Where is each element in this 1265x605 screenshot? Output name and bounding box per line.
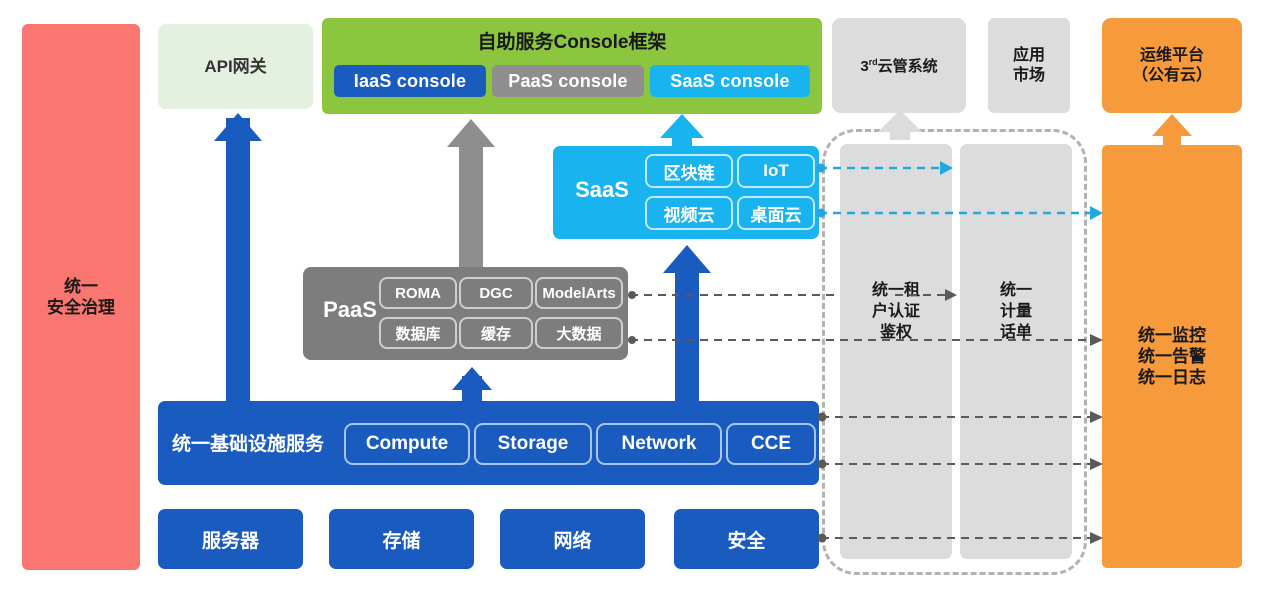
infra-chip-compute[interactable]: Compute — [344, 423, 470, 465]
unified-security-governance-panel: 统一 安全治理 — [22, 24, 140, 570]
iaas-console-chip[interactable]: IaaS console — [334, 65, 486, 97]
unified-monitoring-label: 统一监控 统一告警 统一日志 — [1138, 325, 1206, 389]
arrow-infra-to-paas-shaft — [462, 376, 482, 401]
unified-tenant-auth-column — [840, 144, 952, 559]
third-party-cloud-management-label: 3rd云管系统 — [860, 55, 937, 76]
paas-chip-bigdata[interactable]: 大数据 — [535, 317, 623, 349]
arrow-infra-to-saas-shaft — [675, 260, 699, 401]
hardware-box-security: 安全 — [674, 509, 819, 569]
arrow-saas-to-console-shaft — [672, 128, 692, 146]
app-market-label: 应用 市场 — [1013, 46, 1045, 86]
arrow-infra-to-paas-head — [452, 367, 492, 390]
paas-label: PaaS — [311, 297, 389, 323]
paas-chip-database[interactable]: 数据库 — [379, 317, 457, 349]
paas-console-chip[interactable]: PaaS console — [492, 65, 644, 97]
saas-chip-blockchain[interactable]: 区块链 — [645, 154, 733, 188]
saas-chip-desktop-cloud[interactable]: 桌面云 — [737, 196, 815, 230]
hardware-box-server: 服务器 — [158, 509, 303, 569]
app-market-box: 应用 市场 — [988, 18, 1070, 113]
unified-metering-column — [960, 144, 1072, 559]
paas-chip-roma[interactable]: ROMA — [379, 277, 457, 309]
arrow-infra-to-saas-head — [663, 245, 711, 273]
arrow-paas-to-console-shaft — [459, 134, 483, 267]
paas-block: PaaS ROMA DGC ModelArts 数据库 缓存 大数据 — [303, 267, 628, 360]
architecture-diagram: 统一 安全治理 API网关 自助服务Console框架 IaaS console… — [0, 0, 1265, 605]
arrow-saas-to-console-head — [660, 114, 704, 138]
saas-chip-video-cloud[interactable]: 视频云 — [645, 196, 733, 230]
hardware-box-network: 网络 — [500, 509, 645, 569]
saas-block: SaaS 区块链 IoT 视频云 桌面云 — [553, 146, 819, 239]
self-service-console-framework: 自助服务Console框架 IaaS console PaaS console … — [322, 18, 822, 114]
dashed-paas-to-auth-dot — [628, 291, 636, 299]
api-gateway-box: API网关 — [158, 24, 313, 109]
hardware-box-storage: 存储 — [329, 509, 474, 569]
console-framework-title: 自助服务Console框架 — [322, 27, 822, 54]
unified-tenant-auth-label: 统一租 户认证 鉴权 — [840, 281, 952, 343]
saas-chip-iot[interactable]: IoT — [737, 154, 815, 188]
ops-platform-label: 运维平台 （公有云） — [1132, 46, 1212, 86]
unified-metering-label: 统一 计量 话单 — [960, 281, 1072, 343]
saas-console-chip[interactable]: SaaS console — [650, 65, 810, 97]
paas-chip-cache[interactable]: 缓存 — [459, 317, 533, 349]
infra-chip-cce[interactable]: CCE — [726, 423, 816, 465]
infra-chip-network[interactable]: Network — [596, 423, 722, 465]
arrow-paas-to-console-head — [447, 119, 495, 147]
ops-platform-box: 运维平台 （公有云） — [1102, 18, 1242, 113]
unified-monitoring-box: 统一监控 统一告警 统一日志 — [1102, 145, 1242, 568]
paas-chip-dgc[interactable]: DGC — [459, 277, 533, 309]
unified-infrastructure-label: 统一基础设施服务 — [172, 429, 324, 456]
dashed-paas-to-ops-dot — [628, 336, 636, 344]
arrow-infra-to-api-gateway — [226, 118, 250, 401]
unified-infrastructure-bar: 统一基础设施服务 Compute Storage Network CCE — [158, 401, 819, 485]
arrow-infra-to-api-gateway-head — [214, 113, 262, 141]
saas-label: SaaS — [563, 177, 641, 203]
unified-security-governance-label: 统一 安全治理 — [47, 276, 115, 319]
arrow-to-ops-platform-head — [1152, 114, 1192, 136]
arrow-to-ops-platform-shaft — [1163, 128, 1181, 145]
infra-chip-storage[interactable]: Storage — [474, 423, 592, 465]
third-party-cloud-management-box: 3rd云管系统 — [832, 18, 966, 113]
api-gateway-label: API网关 — [204, 56, 266, 77]
paas-chip-modelarts[interactable]: ModelArts — [535, 277, 623, 309]
